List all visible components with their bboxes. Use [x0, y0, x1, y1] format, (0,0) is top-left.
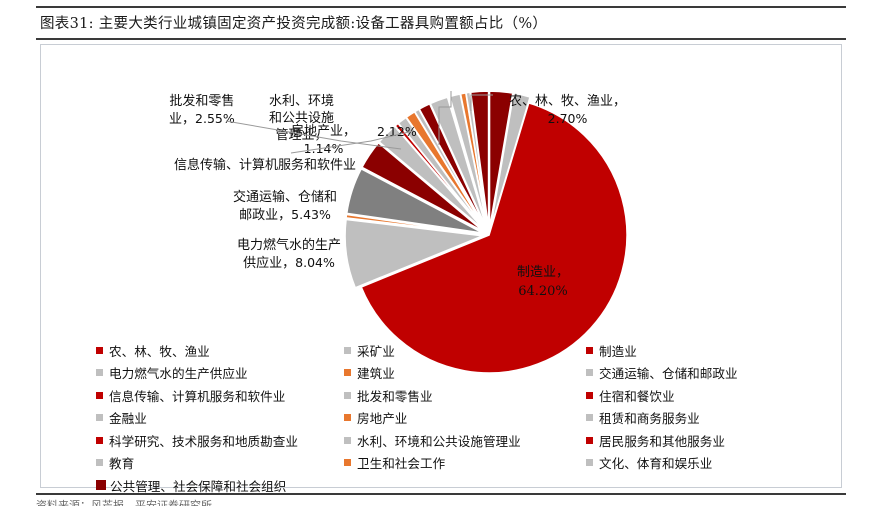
legend-marker-icon — [586, 392, 593, 399]
legend-marker-icon — [96, 414, 103, 421]
legend-item-label: 房地产业 — [357, 408, 407, 427]
legend-item-label: 采矿业 — [357, 341, 395, 360]
legend-item-label: 电力燃气水的生产供应业 — [109, 363, 248, 382]
legend-item-label: 建筑业 — [357, 363, 395, 382]
chart-panel: 批发和零售 业，2.55% 水利、环境 和公共设施 管理业， 2.12% 房地产… — [40, 44, 842, 488]
legend-marker-icon — [96, 437, 103, 444]
legend-item[interactable]: 农、林、牧、渔业 — [96, 339, 344, 362]
legend-marker-icon — [586, 437, 593, 444]
legend-marker-icon — [586, 459, 593, 466]
legend-item[interactable]: 住宿和餐饮业 — [586, 384, 796, 407]
legend-item[interactable]: 居民服务和其他服务业 — [586, 429, 796, 452]
legend-item-label: 批发和零售业 — [357, 386, 433, 405]
legend-item-label: 卫生和社会工作 — [357, 453, 445, 472]
legend-marker-icon — [586, 369, 593, 376]
legend-item-label: 文化、体育和娱乐业 — [599, 453, 712, 472]
legend-item[interactable]: 金融业 — [96, 407, 344, 430]
callout-wholesale-line2: 业，2.55% — [169, 110, 235, 128]
legend-marker-icon — [586, 347, 593, 354]
legend-marker-icon — [344, 369, 351, 376]
legend-item[interactable]: 电力燃气水的生产供应业 — [96, 362, 344, 385]
legend-item[interactable]: 租赁和商务服务业 — [586, 407, 796, 430]
legend-item-label: 教育 — [109, 453, 134, 472]
callout-manu-line1: 制造业， — [517, 263, 569, 282]
callout-wholesale-retail: 批发和零售 业，2.55% — [169, 93, 235, 128]
legend-item-label: 水利、环境和公共设施管理业 — [357, 431, 521, 450]
legend-column-2: 采矿业建筑业批发和零售业房地产业水利、环境和公共设施管理业卫生和社会工作 — [344, 339, 586, 497]
callout-real-estate: 房地产业， 1.14% — [291, 123, 356, 157]
legend-item[interactable]: 批发和零售业 — [344, 384, 586, 407]
callout-power-line1: 电力燃气水的生产 — [237, 237, 341, 254]
legend-item[interactable]: 卫生和社会工作 — [344, 452, 586, 475]
legend-marker-icon — [344, 414, 351, 421]
legend-item-label: 住宿和餐饮业 — [599, 386, 675, 405]
legend-marker-icon — [586, 414, 593, 421]
callout-power-gas-water: 电力燃气水的生产 供应业，8.04% — [237, 237, 341, 272]
callout-info-text: 信息传输、计算机服务和软件业 — [174, 157, 356, 174]
legend-item[interactable]: 水利、环境和公共设施管理业 — [344, 429, 586, 452]
source-note: 资料来源：风芒报，平安证券研究所 — [36, 497, 846, 506]
callout-agri-pct: 2.70% — [509, 110, 626, 127]
legend-marker-icon — [344, 437, 351, 444]
legend-marker-icon — [344, 347, 351, 354]
legend-column-3: 制造业交通运输、仓储和邮政业住宿和餐饮业租赁和商务服务业居民服务和其他服务业文化… — [586, 339, 796, 497]
callout-manu-pct: 64.20% — [517, 282, 569, 301]
page-title: 图表31: 主要大类行业城镇固定资产投资完成额:设备工器具购置额占比（%） — [40, 12, 846, 36]
legend-marker-icon — [96, 369, 103, 376]
callout-transport-line1: 交通运输、仓储和 — [233, 189, 337, 206]
legend-marker-icon — [96, 347, 103, 354]
callout-agriculture: 农、林、牧、渔业， 2.70% — [509, 93, 626, 127]
legend-item[interactable]: 制造业 — [586, 339, 796, 362]
bottom-rule — [36, 493, 846, 495]
callout-information-transmission: 信息传输、计算机服务和软件业 — [174, 157, 356, 174]
callout-power-line2: 供应业，8.04% — [237, 254, 341, 272]
legend-item-label: 农、林、牧、渔业 — [109, 341, 210, 360]
legend-item[interactable]: 房地产业 — [344, 407, 586, 430]
callout-transport-storage-post: 交通运输、仓储和 邮政业，5.43% — [233, 189, 337, 224]
chart-legend: 农、林、牧、渔业电力燃气水的生产供应业信息传输、计算机服务和软件业金融业科学研究… — [96, 339, 796, 497]
legend-item-label: 制造业 — [599, 341, 637, 360]
legend-marker-icon — [96, 392, 103, 399]
top-rule — [36, 6, 846, 8]
legend-marker-icon — [96, 480, 106, 490]
legend-item-label: 信息传输、计算机服务和软件业 — [109, 386, 285, 405]
callout-wholesale-line1: 批发和零售 — [169, 93, 235, 110]
chart-page: 图表31: 主要大类行业城镇固定资产投资完成额:设备工器具购置额占比（%） 批发… — [0, 0, 881, 506]
callout-realestate-line1: 房地产业， — [291, 123, 356, 140]
legend-column-1: 农、林、牧、渔业电力燃气水的生产供应业信息传输、计算机服务和软件业金融业科学研究… — [96, 339, 344, 497]
legend-marker-icon — [344, 392, 351, 399]
callout-water-line1: 水利、环境 — [269, 93, 334, 110]
legend-item-label: 租赁和商务服务业 — [599, 408, 700, 427]
legend-item[interactable]: 交通运输、仓储和邮政业 — [586, 362, 796, 385]
legend-marker-icon — [96, 459, 103, 466]
legend-item[interactable]: 信息传输、计算机服务和软件业 — [96, 384, 344, 407]
title-underline-rule — [36, 38, 846, 40]
callout-realestate-pct: 1.14% — [291, 140, 356, 157]
callout-agri-line1: 农、林、牧、渔业， — [509, 93, 626, 110]
legend-item-label: 居民服务和其他服务业 — [599, 431, 725, 450]
callout-water-pct: 2.12% — [377, 123, 417, 141]
callout-transport-line2: 邮政业，5.43% — [233, 206, 337, 224]
callout-manufacturing: 制造业， 64.20% — [517, 263, 569, 301]
legend-item[interactable]: 文化、体育和娱乐业 — [586, 452, 796, 475]
legend-item-label: 公共管理、社会保障和社会组织 — [110, 476, 286, 495]
legend-item-label: 金融业 — [109, 408, 147, 427]
legend-item[interactable]: 科学研究、技术服务和地质勘查业 — [96, 429, 344, 452]
legend-item-label: 科学研究、技术服务和地质勘查业 — [109, 431, 298, 450]
legend-item[interactable]: 教育 — [96, 452, 344, 475]
legend-item[interactable]: 采矿业 — [344, 339, 586, 362]
legend-marker-icon — [344, 459, 351, 466]
legend-item-label: 交通运输、仓储和邮政业 — [599, 363, 738, 382]
legend-item[interactable]: 建筑业 — [344, 362, 586, 385]
